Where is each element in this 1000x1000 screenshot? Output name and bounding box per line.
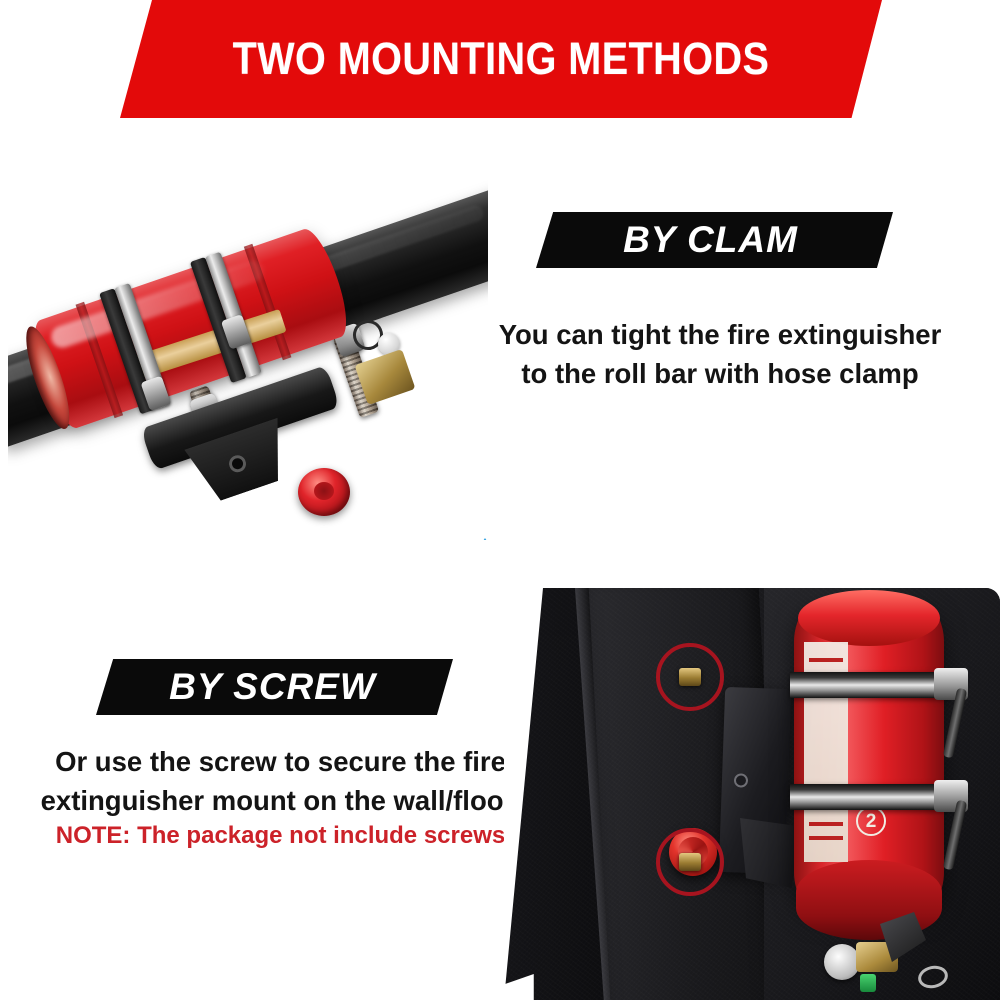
- arrow-up-icon: [468, 538, 488, 540]
- by-clam-line-1: You can tight the fire extinguisher: [455, 315, 985, 354]
- pressure-gauge: [824, 944, 860, 980]
- label-line: [809, 658, 843, 662]
- safety-ring-pin-icon: [916, 963, 950, 991]
- steel-band-upper: [790, 672, 950, 698]
- arrow-head: [468, 538, 488, 540]
- red-adjust-knob: [298, 468, 350, 516]
- by-clam-line-2: to the roll bar with hose clamp: [455, 354, 985, 393]
- photo-clamp-mount: [8, 150, 488, 540]
- banner-by-screw-label: BY SCREW: [169, 666, 376, 708]
- extinguisher-cap: [798, 590, 940, 646]
- banner-by-screw: BY SCREW: [96, 659, 453, 715]
- by-screw-description: Or use the screw to secure the fire exti…: [8, 742, 553, 820]
- by-screw-line-2: extinguisher mount on the wall/floor.: [8, 781, 553, 820]
- by-clam-description: You can tight the fire extinguisher to t…: [455, 315, 985, 393]
- mount-arm: [740, 818, 800, 888]
- green-safety-tag: [860, 974, 876, 992]
- banner-by-clam-label: BY CLAM: [623, 219, 798, 261]
- infographic-page: TWO MOUNTING METHODS: [0, 0, 1000, 1000]
- banner-by-clam: BY CLAM: [536, 212, 893, 268]
- extinguisher-nozzle-assembly: [824, 918, 954, 988]
- red-circle-lower-screw: [656, 828, 724, 896]
- package-note: NOTE: The package not include screws: [8, 822, 553, 850]
- header-banner: TWO MOUNTING METHODS: [120, 0, 882, 118]
- label-line: [809, 822, 843, 826]
- page-title: TWO MOUNTING METHODS: [233, 33, 770, 85]
- red-circle-upper-screw: [656, 643, 724, 711]
- extinguisher-label-symbol: 2: [856, 806, 886, 836]
- steel-band-lower: [790, 784, 950, 810]
- by-screw-line-1: Or use the screw to secure the fire: [8, 742, 553, 781]
- photo-screw-mount: 2: [504, 588, 1000, 1000]
- label-line: [809, 836, 843, 840]
